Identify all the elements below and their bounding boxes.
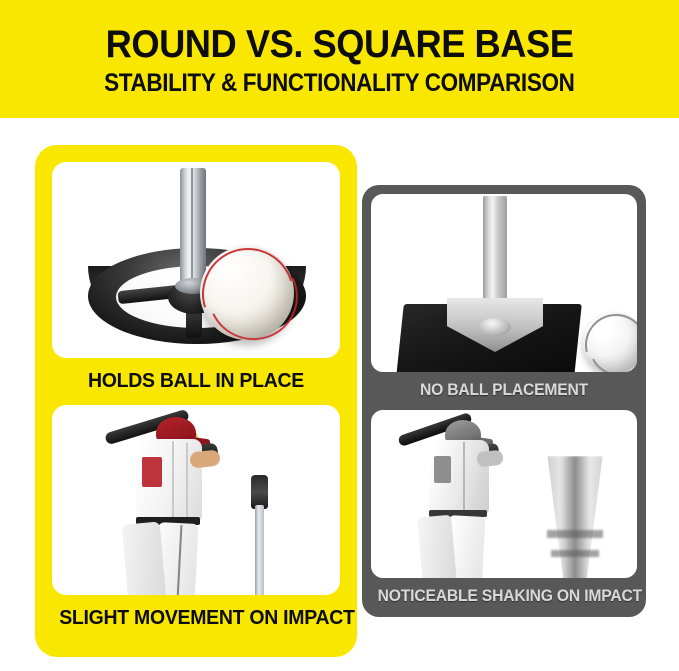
page-title: ROUND VS. SQUARE BASE <box>106 24 574 66</box>
tee-pole <box>180 168 206 288</box>
caption-holds-ball: HOLDS BALL IN PLACE <box>59 358 333 405</box>
card-slight-movement <box>52 405 340 595</box>
square-base-illustration <box>371 194 637 372</box>
card-no-ball-placement <box>371 194 637 372</box>
tee-pole-seam <box>191 168 193 286</box>
tee-shaft <box>255 505 264 595</box>
round-base-illustration <box>52 162 340 358</box>
shaking-tee-motion-blur <box>529 456 621 578</box>
card-noticeable-shaking <box>371 410 637 578</box>
card-holds-ball <box>52 162 340 358</box>
jersey-pinstripe <box>172 441 174 519</box>
tee-foot-nub <box>479 318 511 336</box>
batter-shaking-tee-illustration <box>371 410 637 578</box>
batter-arm <box>476 450 503 468</box>
tee-ball-cup <box>251 475 268 509</box>
panel-round-base: HOLDS BALL IN PLACE <box>35 145 357 657</box>
jersey-number <box>142 457 162 487</box>
jersey-number <box>434 456 451 483</box>
shaking-tee-band <box>547 530 603 538</box>
caption-noticeable-shaking: NOTICEABLE SHAKING ON IMPACT <box>378 578 631 616</box>
jersey-pinstripe <box>463 442 465 512</box>
page-subtitle: STABILITY & FUNCTIONALITY COMPARISON <box>104 68 574 98</box>
header-banner: ROUND VS. SQUARE BASE STABILITY & FUNCTI… <box>0 0 679 118</box>
batter-arm <box>189 449 221 468</box>
shaking-tee-band <box>551 550 599 557</box>
caption-slight-movement: SLIGHT MOVEMENT ON IMPACT <box>59 595 333 642</box>
tee-pole <box>483 196 507 308</box>
batter-round-tee-illustration <box>52 405 340 595</box>
jersey-pinstripe <box>186 443 188 517</box>
caption-no-ball-placement: NO BALL PLACEMENT <box>378 372 631 410</box>
panel-square-base: NO BALL PLACEMENT <box>362 185 646 617</box>
